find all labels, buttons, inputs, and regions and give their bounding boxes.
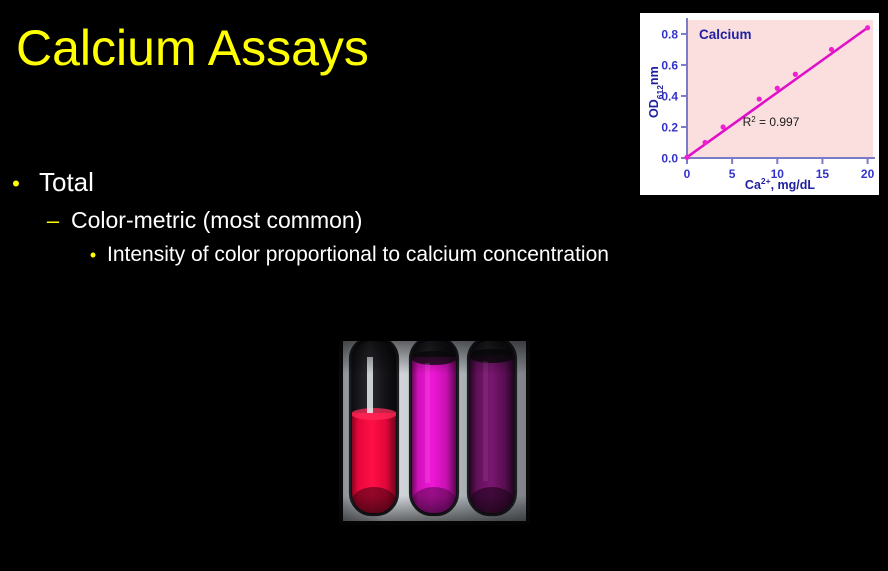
- chart-svg: 0.00.20.40.60.8 05101520 Calcium R2 = 0.…: [640, 13, 879, 195]
- calcium-standard-curve-chart: 0.00.20.40.60.8 05101520 Calcium R2 = 0.…: [640, 13, 879, 195]
- x-axis-label: Ca2+, mg/dL: [745, 176, 815, 192]
- chart-title: Calcium: [699, 27, 752, 42]
- data-point: [793, 72, 798, 77]
- test-tube-photo: [339, 341, 530, 525]
- list-item-label: Color-metric (most common): [71, 204, 362, 237]
- x-tick-label: 5: [729, 167, 736, 181]
- data-point: [721, 124, 726, 129]
- data-point: [702, 140, 707, 145]
- data-point: [757, 96, 762, 101]
- test-tube-photo-svg: [339, 341, 530, 525]
- list-item-label: Total: [39, 165, 94, 199]
- r-squared-annotation: R2 = 0.997: [743, 115, 800, 130]
- list-item: • Intensity of color proportional to cal…: [0, 240, 640, 270]
- data-point: [684, 155, 689, 160]
- y-tick-label: 0.6: [661, 58, 678, 72]
- data-point: [865, 25, 870, 30]
- y-tick-label: 0.8: [661, 27, 678, 41]
- photo-vignette: [339, 341, 530, 525]
- data-point: [829, 47, 834, 52]
- page-title: Calcium Assays: [16, 17, 369, 79]
- bullet-marker-icon: •: [86, 240, 100, 270]
- list-item: – Color-metric (most common): [0, 204, 640, 237]
- x-tick-label: 20: [861, 167, 875, 181]
- dash-marker-icon: –: [44, 204, 62, 237]
- y-tick-label: 0.2: [661, 120, 678, 134]
- bullet-marker-icon: •: [6, 167, 26, 201]
- data-point: [775, 86, 780, 91]
- x-tick-label: 0: [684, 167, 691, 181]
- bullet-list: • Total – Color-metric (most common) • I…: [0, 165, 640, 270]
- y-tick-label: 0.0: [661, 152, 678, 166]
- list-item: • Total: [0, 165, 640, 201]
- x-tick-label: 15: [816, 167, 830, 181]
- list-item-label: Intensity of color proportional to calci…: [107, 240, 609, 270]
